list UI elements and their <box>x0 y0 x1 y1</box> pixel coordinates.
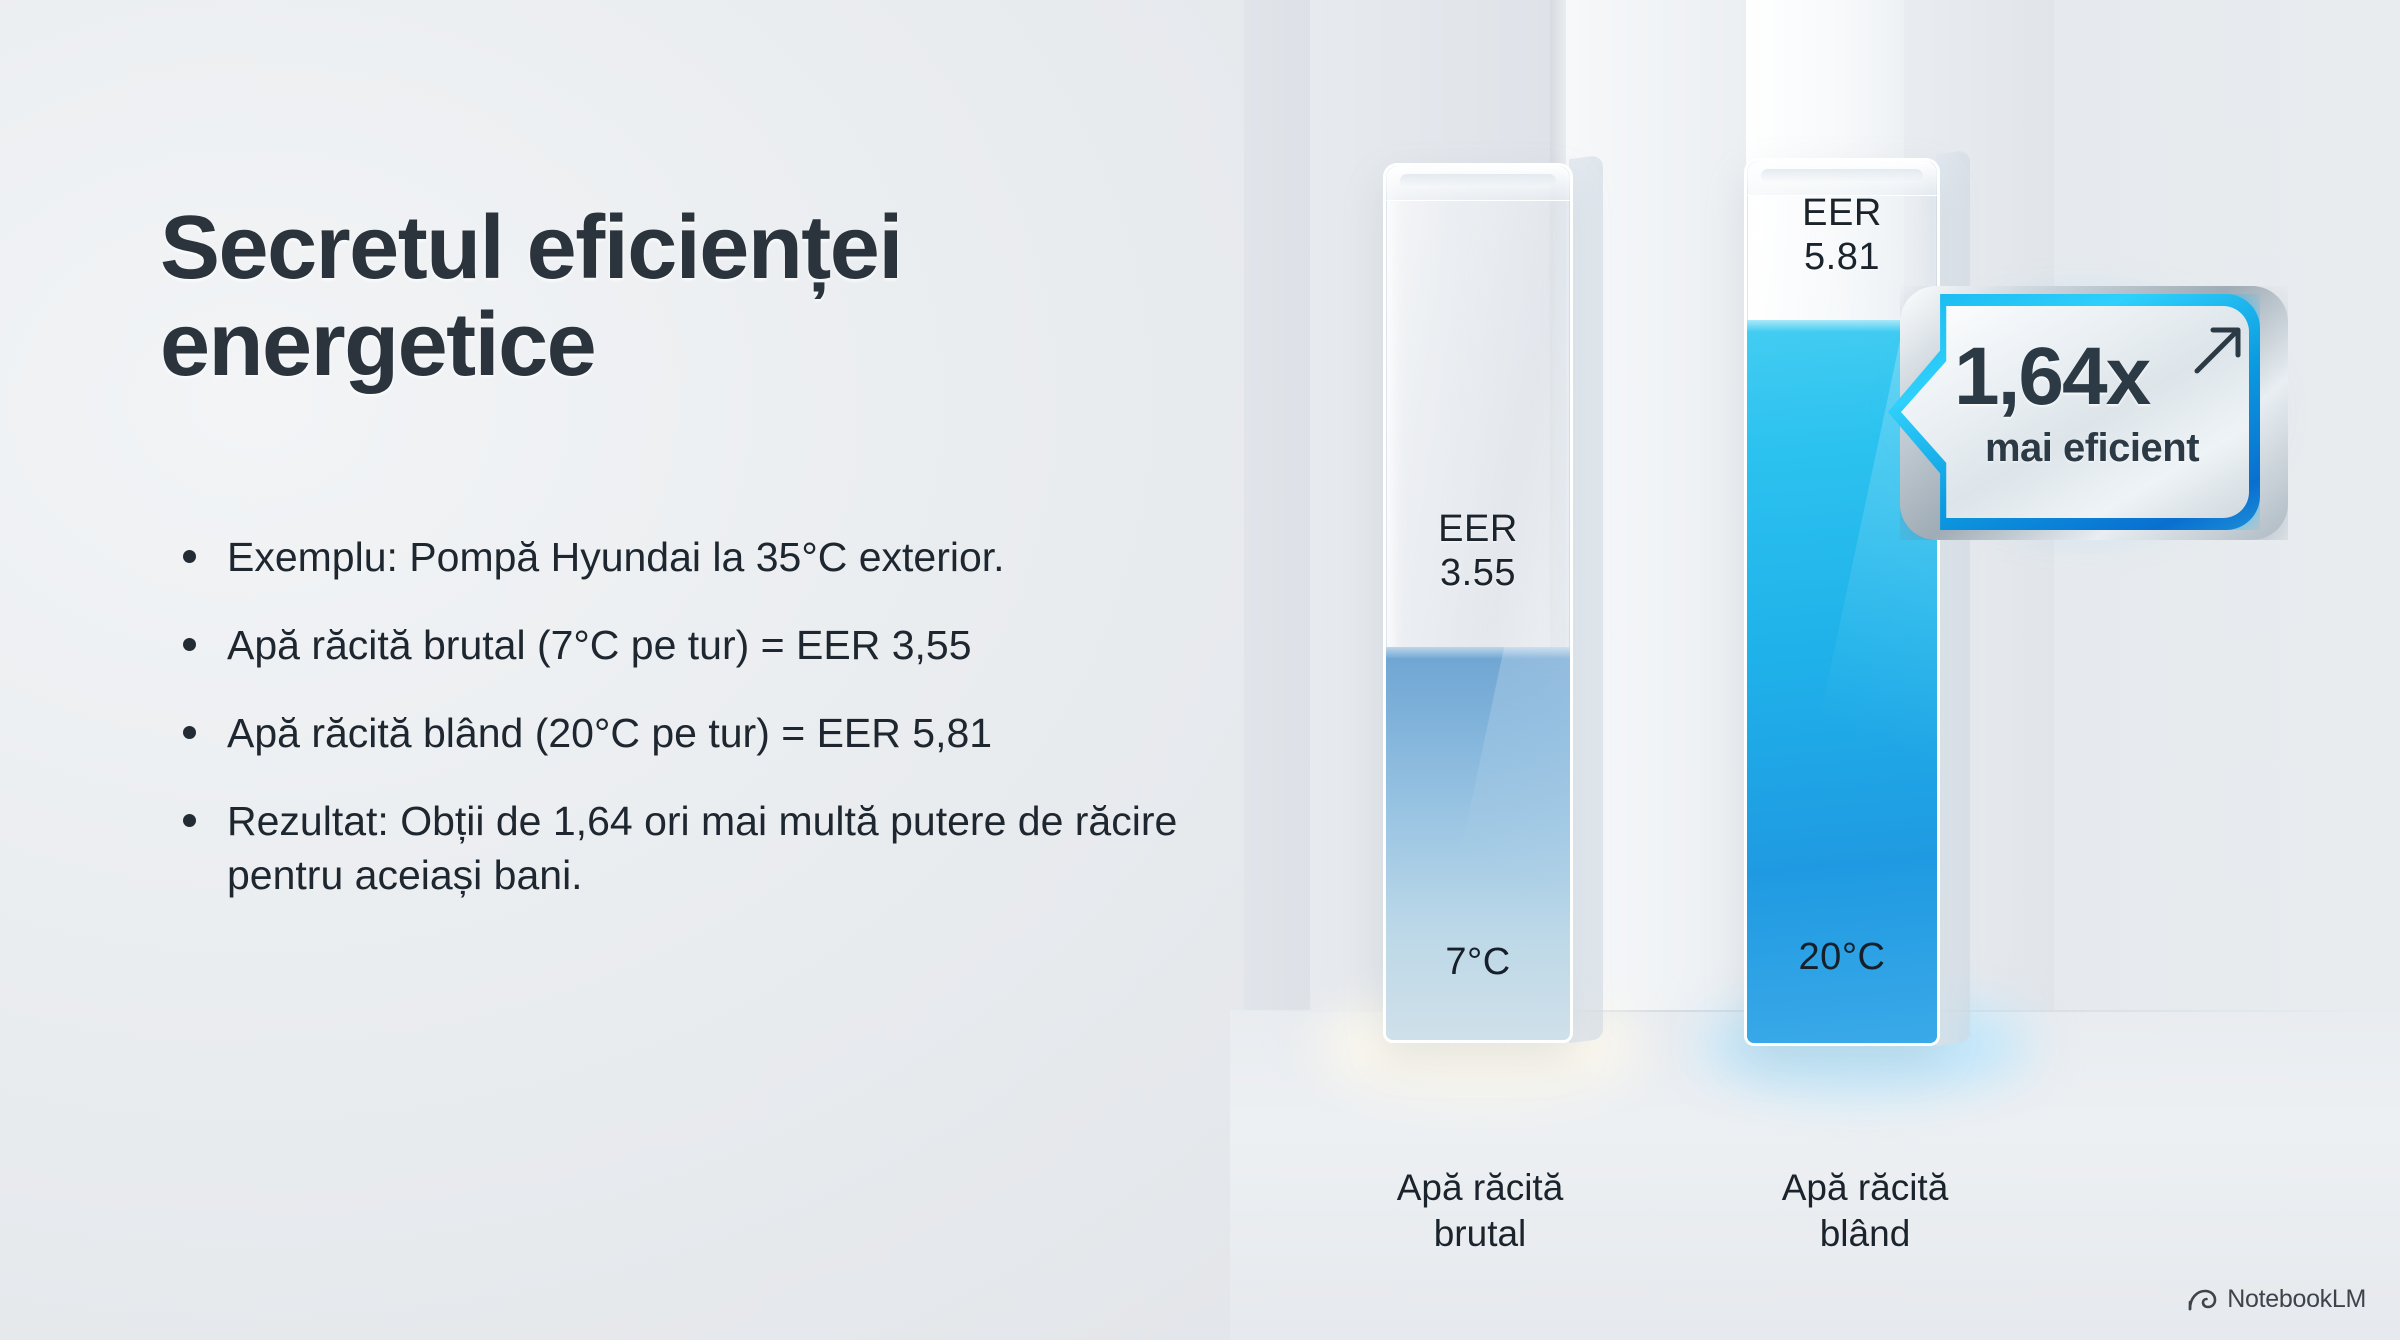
notebooklm-icon <box>2187 1287 2217 1313</box>
beaker-brutal: EER 3.55 7°C <box>1383 163 1573 1043</box>
watermark-label: NotebookLM <box>2227 1285 2366 1314</box>
bullet-text: Apă răcită brutal (7°C pe tur) = EER 3,5… <box>227 622 972 668</box>
beaker-rim-inner <box>1400 174 1556 188</box>
bullet-dot-icon <box>183 638 196 651</box>
bullet-dot-icon <box>183 550 196 563</box>
beaker-side-face <box>1569 155 1603 1043</box>
bullet-list: Exemplu: Pompă Hyundai la 35°C exterior.… <box>165 530 1265 937</box>
bullet-dot-icon <box>183 726 196 739</box>
caption-line-1: Apă răcită <box>1700 1165 2030 1211</box>
list-item: Apă răcită brutal (7°C pe tur) = EER 3,5… <box>165 618 1265 672</box>
beaker-eer-label-brutal: EER 3.55 <box>1383 508 1573 595</box>
arrow-up-right-icon <box>2190 322 2246 378</box>
notebooklm-watermark: NotebookLM <box>2187 1285 2366 1314</box>
badge-subtitle: mai eficient <box>1944 426 2240 471</box>
caption-line-2: blând <box>1700 1211 2030 1257</box>
eer-caption: EER <box>1383 508 1573 552</box>
efficiency-badge: 1,64x mai eficient <box>1888 278 2288 548</box>
beaker-glass <box>1383 163 1573 1043</box>
beaker-temp-brutal: 7°C <box>1383 941 1573 984</box>
caption-line-1: Apă răcită <box>1320 1165 1640 1211</box>
bullet-text: Apă răcită blând (20°C pe tur) = EER 5,8… <box>227 710 992 756</box>
eer-caption: EER <box>1744 192 1940 236</box>
bullet-text: Exemplu: Pompă Hyundai la 35°C exterior. <box>227 534 1005 580</box>
bullet-text: Rezultat: Obții de 1,64 ori mai multă pu… <box>227 798 1177 898</box>
eer-value: 3.55 <box>1383 552 1573 596</box>
beaker-temp-bland: 20°C <box>1744 936 1940 979</box>
beaker-caption-bland: Apă răcită blând <box>1700 1165 2030 1258</box>
beaker-caption-brutal: Apă răcită brutal <box>1320 1165 1640 1258</box>
beaker-rim-inner <box>1761 169 1923 183</box>
caption-line-2: brutal <box>1320 1211 1640 1257</box>
page-title: Secretul eficienței energetice <box>160 200 1180 393</box>
list-item: Apă răcită blând (20°C pe tur) = EER 5,8… <box>165 706 1265 760</box>
list-item: Exemplu: Pompă Hyundai la 35°C exterior. <box>165 530 1265 584</box>
bullet-dot-icon <box>183 814 196 827</box>
list-item: Rezultat: Obții de 1,64 ori mai multă pu… <box>165 794 1265 902</box>
